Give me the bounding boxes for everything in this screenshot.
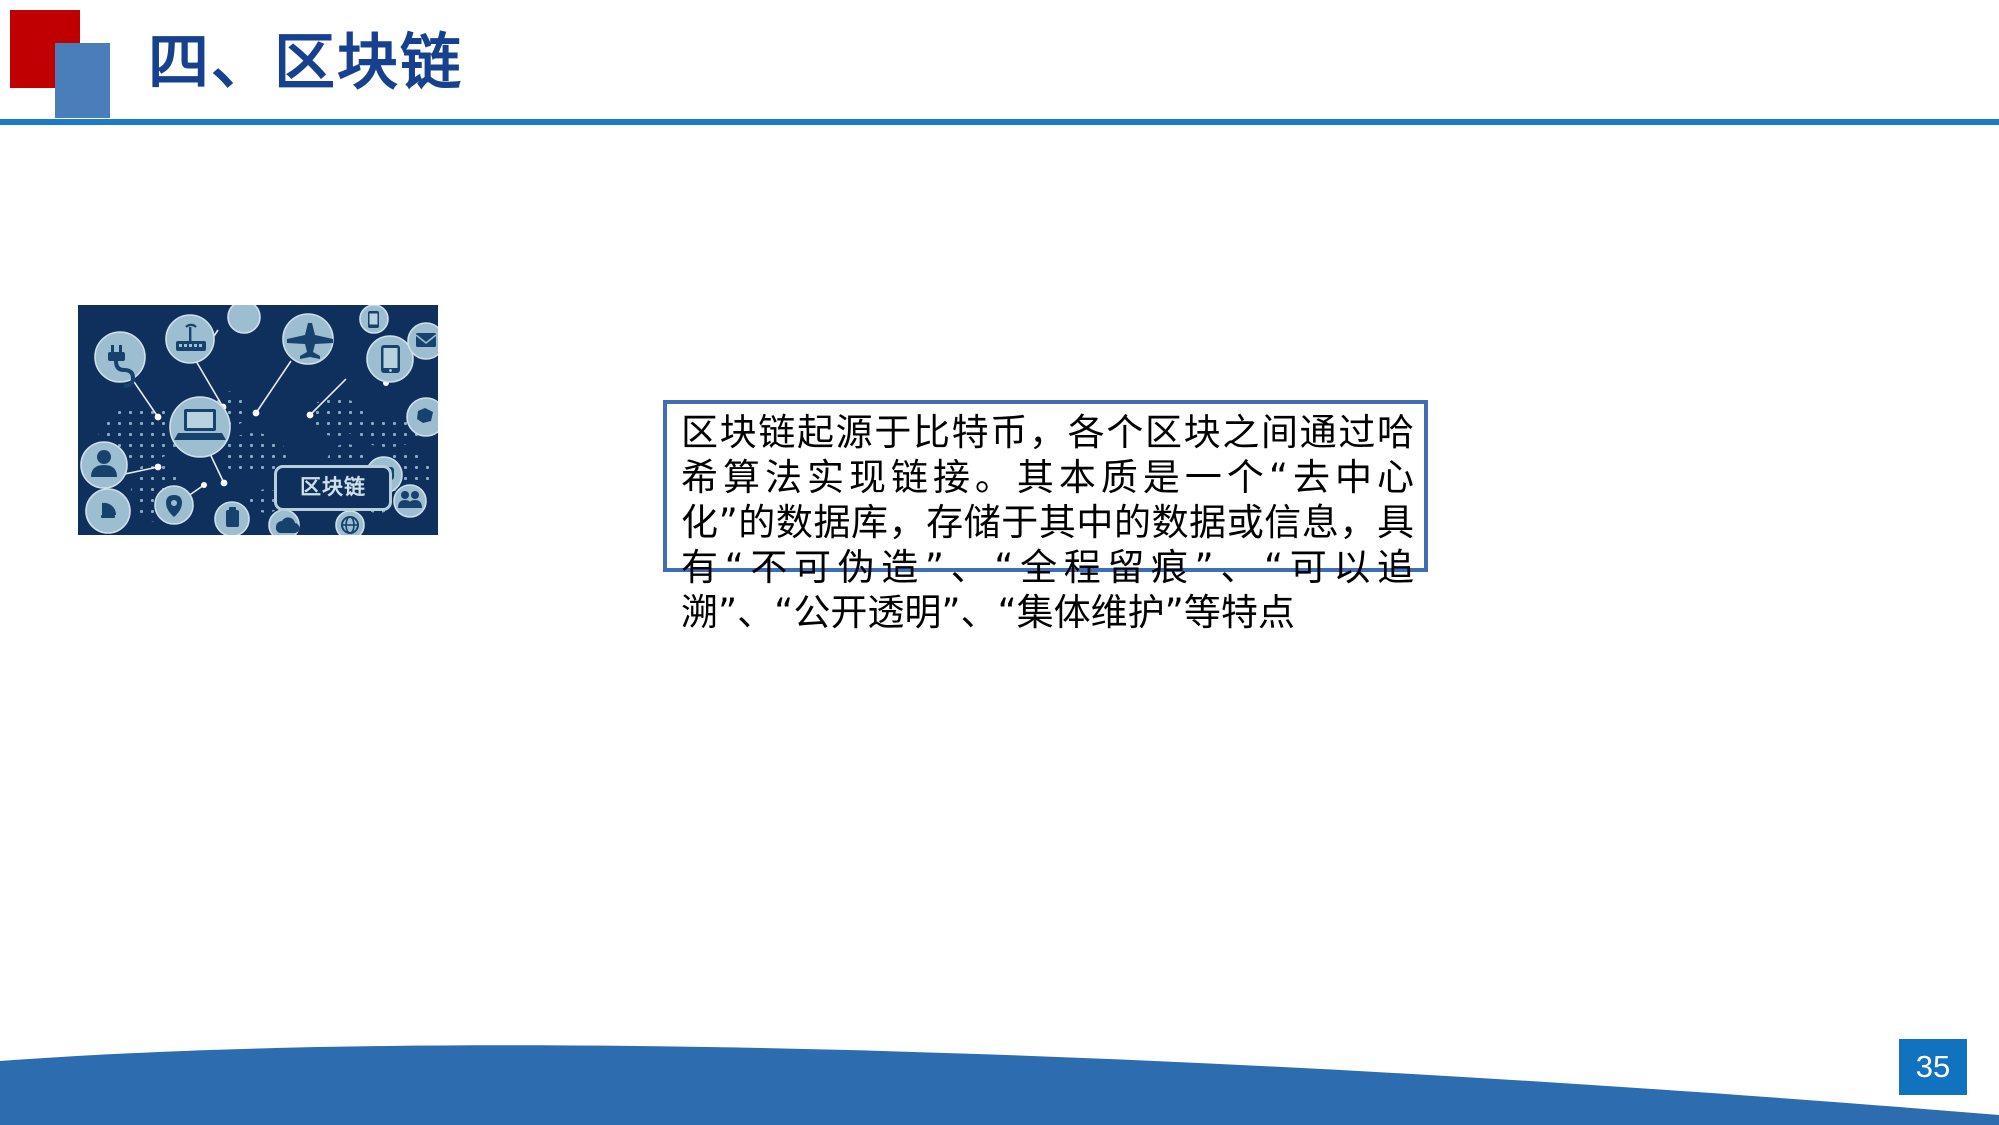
header-divider	[0, 119, 1999, 125]
page-title: 四、区块链	[148, 16, 463, 108]
blockchain-network-image: 区块链	[78, 305, 438, 535]
footer-wave	[0, 1015, 1999, 1125]
body-textbox: 区块链起源于比特币，各个区块之间通过哈希算法实现链接。其本质是一个“去中心化”的…	[663, 400, 1428, 572]
page-number-badge: 35	[1899, 1039, 1967, 1095]
slide: 四、区块链	[0, 0, 1999, 1125]
header-blue-square	[55, 43, 110, 118]
picture-center-label: 区块链	[274, 465, 392, 511]
body-paragraph: 区块链起源于比特币，各个区块之间通过哈希算法实现链接。其本质是一个“去中心化”的…	[681, 410, 1414, 635]
